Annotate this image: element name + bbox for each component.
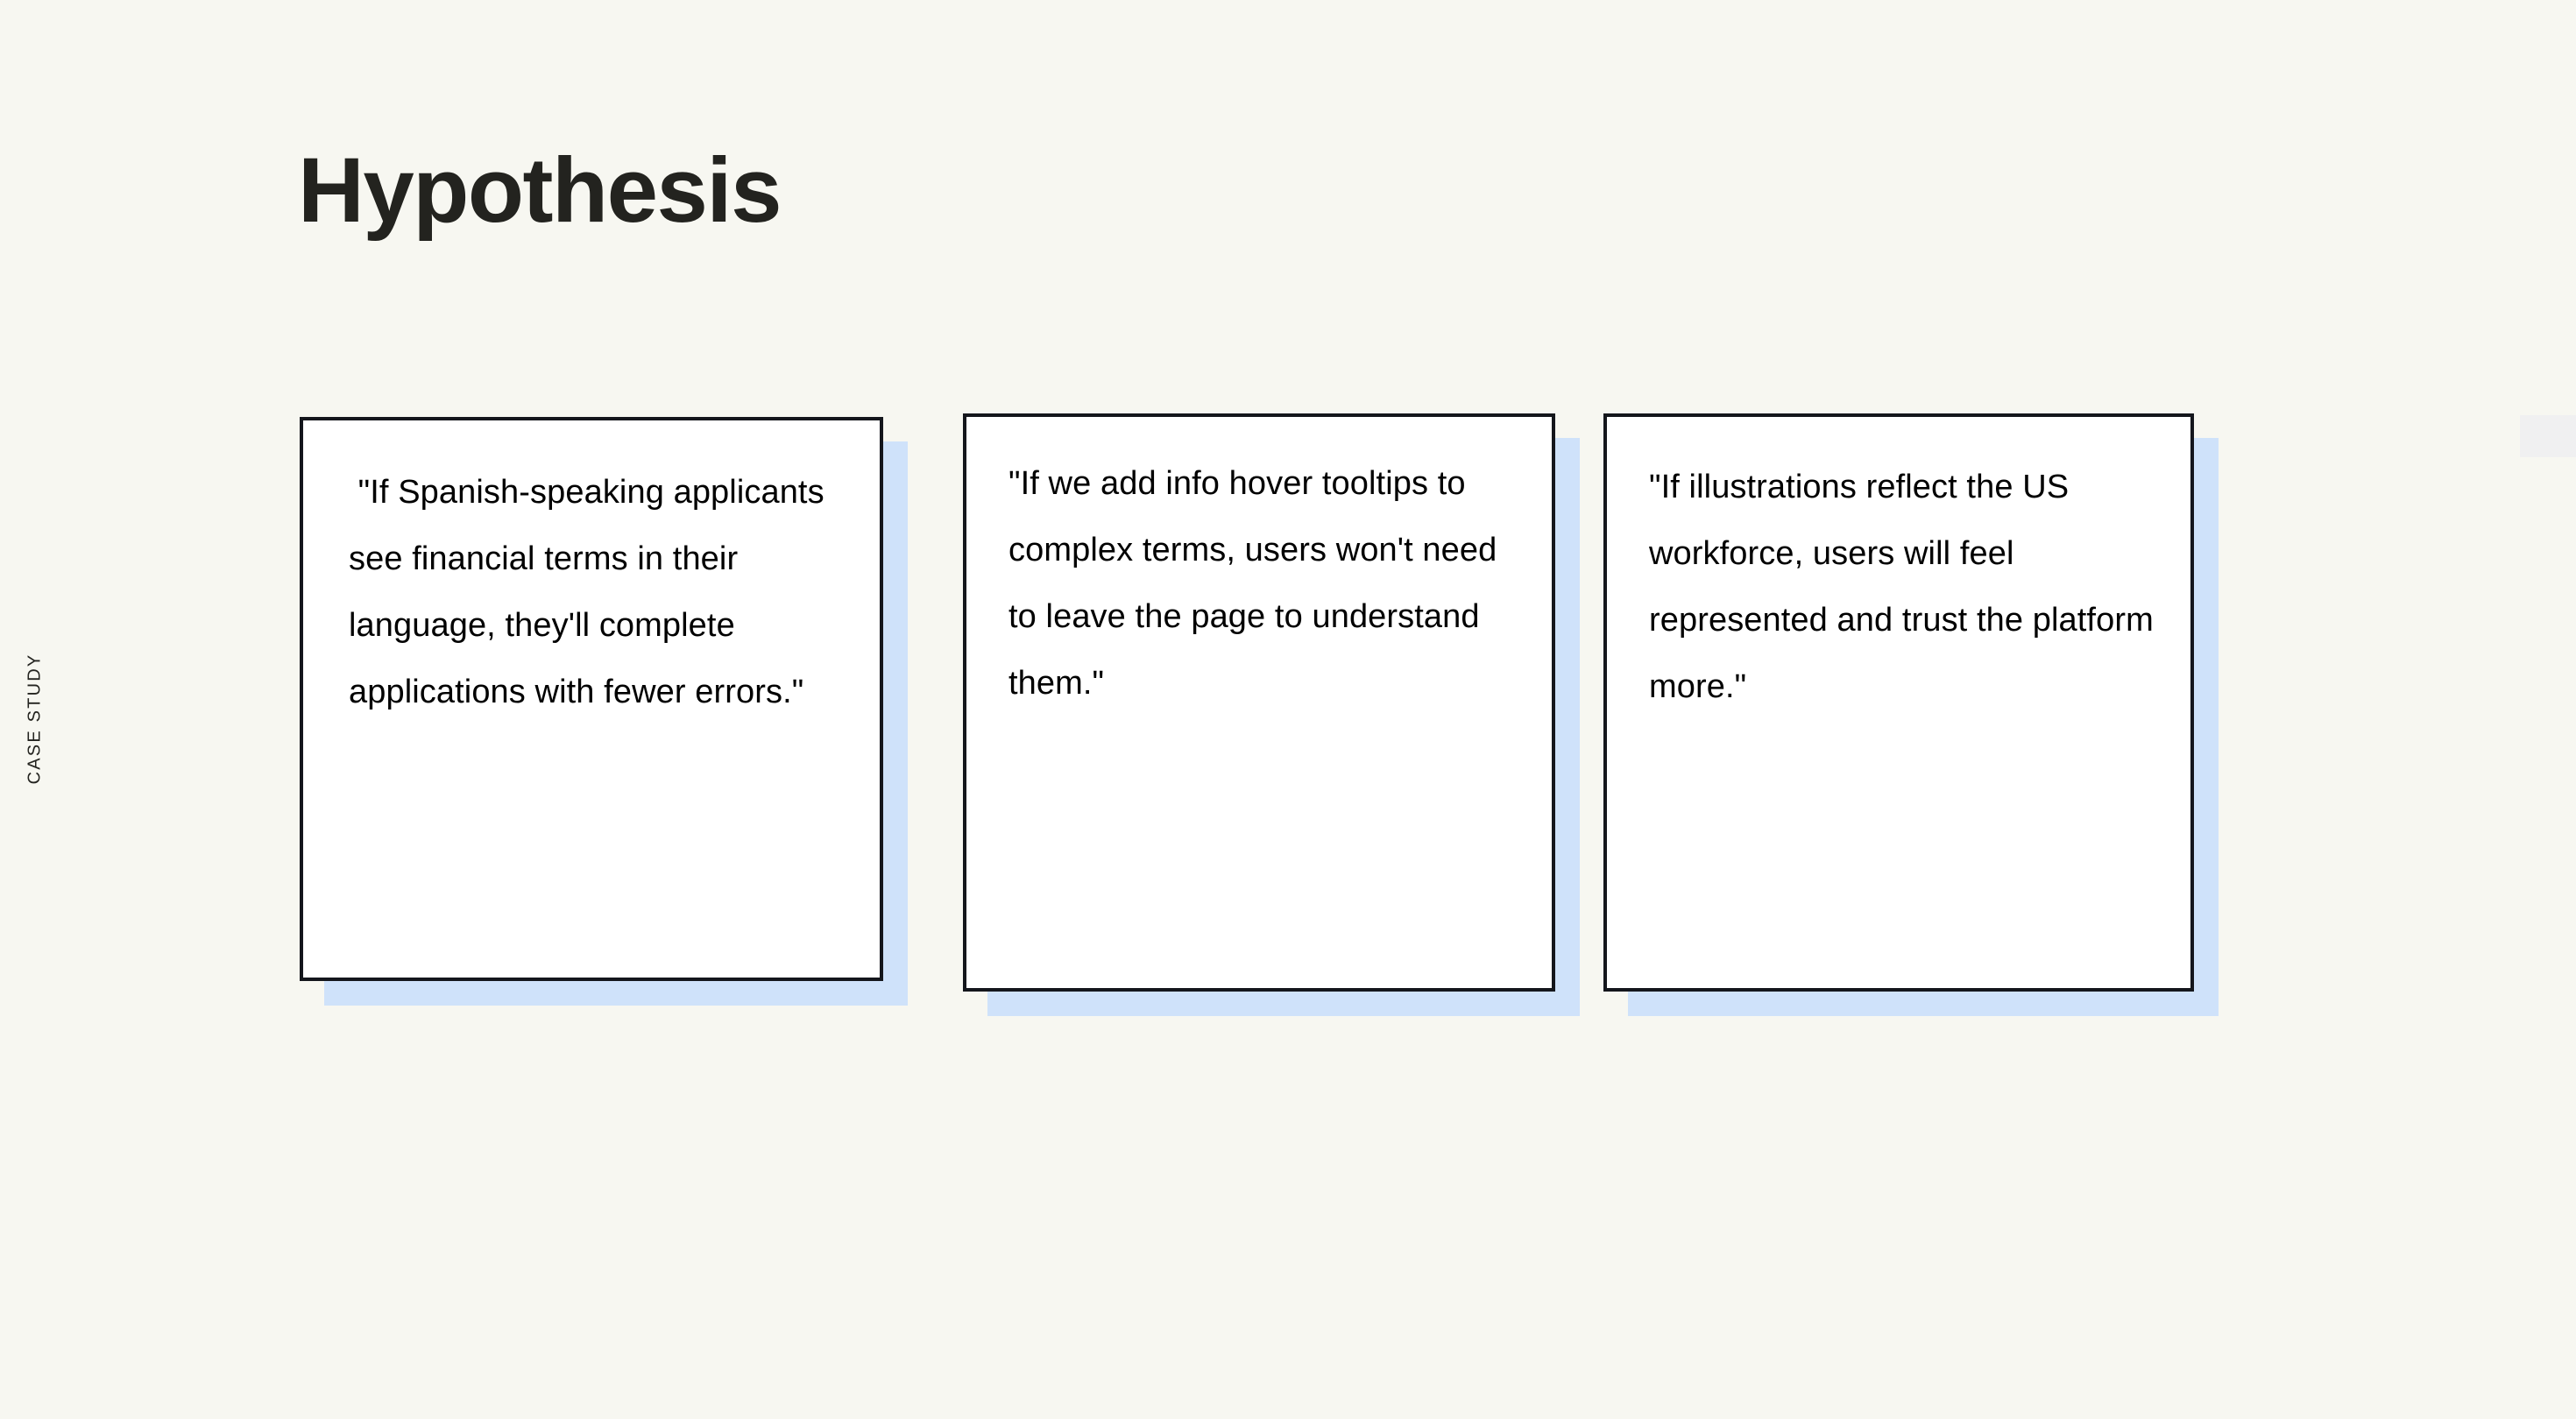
card-1-quote-text: "If Spanish-speaking applicants see fina… bbox=[303, 420, 880, 725]
hypothesis-card-grid: "If Spanish-speaking applicants see fina… bbox=[0, 0, 2576, 1419]
card-2-quote-text: "If we add info hover tooltips to comple… bbox=[966, 417, 1552, 717]
card-3-surface: "If illustrations reflect the US workfor… bbox=[1603, 413, 2194, 992]
card-1-surface: "If Spanish-speaking applicants see fina… bbox=[300, 417, 883, 981]
hypothesis-card-2[interactable]: "If we add info hover tooltips to comple… bbox=[963, 413, 1555, 992]
hypothesis-card-1[interactable]: "If Spanish-speaking applicants see fina… bbox=[300, 417, 883, 981]
card-3-quote-text: "If illustrations reflect the US workfor… bbox=[1607, 417, 2190, 720]
right-edge-panel bbox=[2520, 415, 2576, 457]
hypothesis-card-3[interactable]: "If illustrations reflect the US workfor… bbox=[1603, 413, 2194, 992]
card-2-surface: "If we add info hover tooltips to comple… bbox=[963, 413, 1555, 992]
